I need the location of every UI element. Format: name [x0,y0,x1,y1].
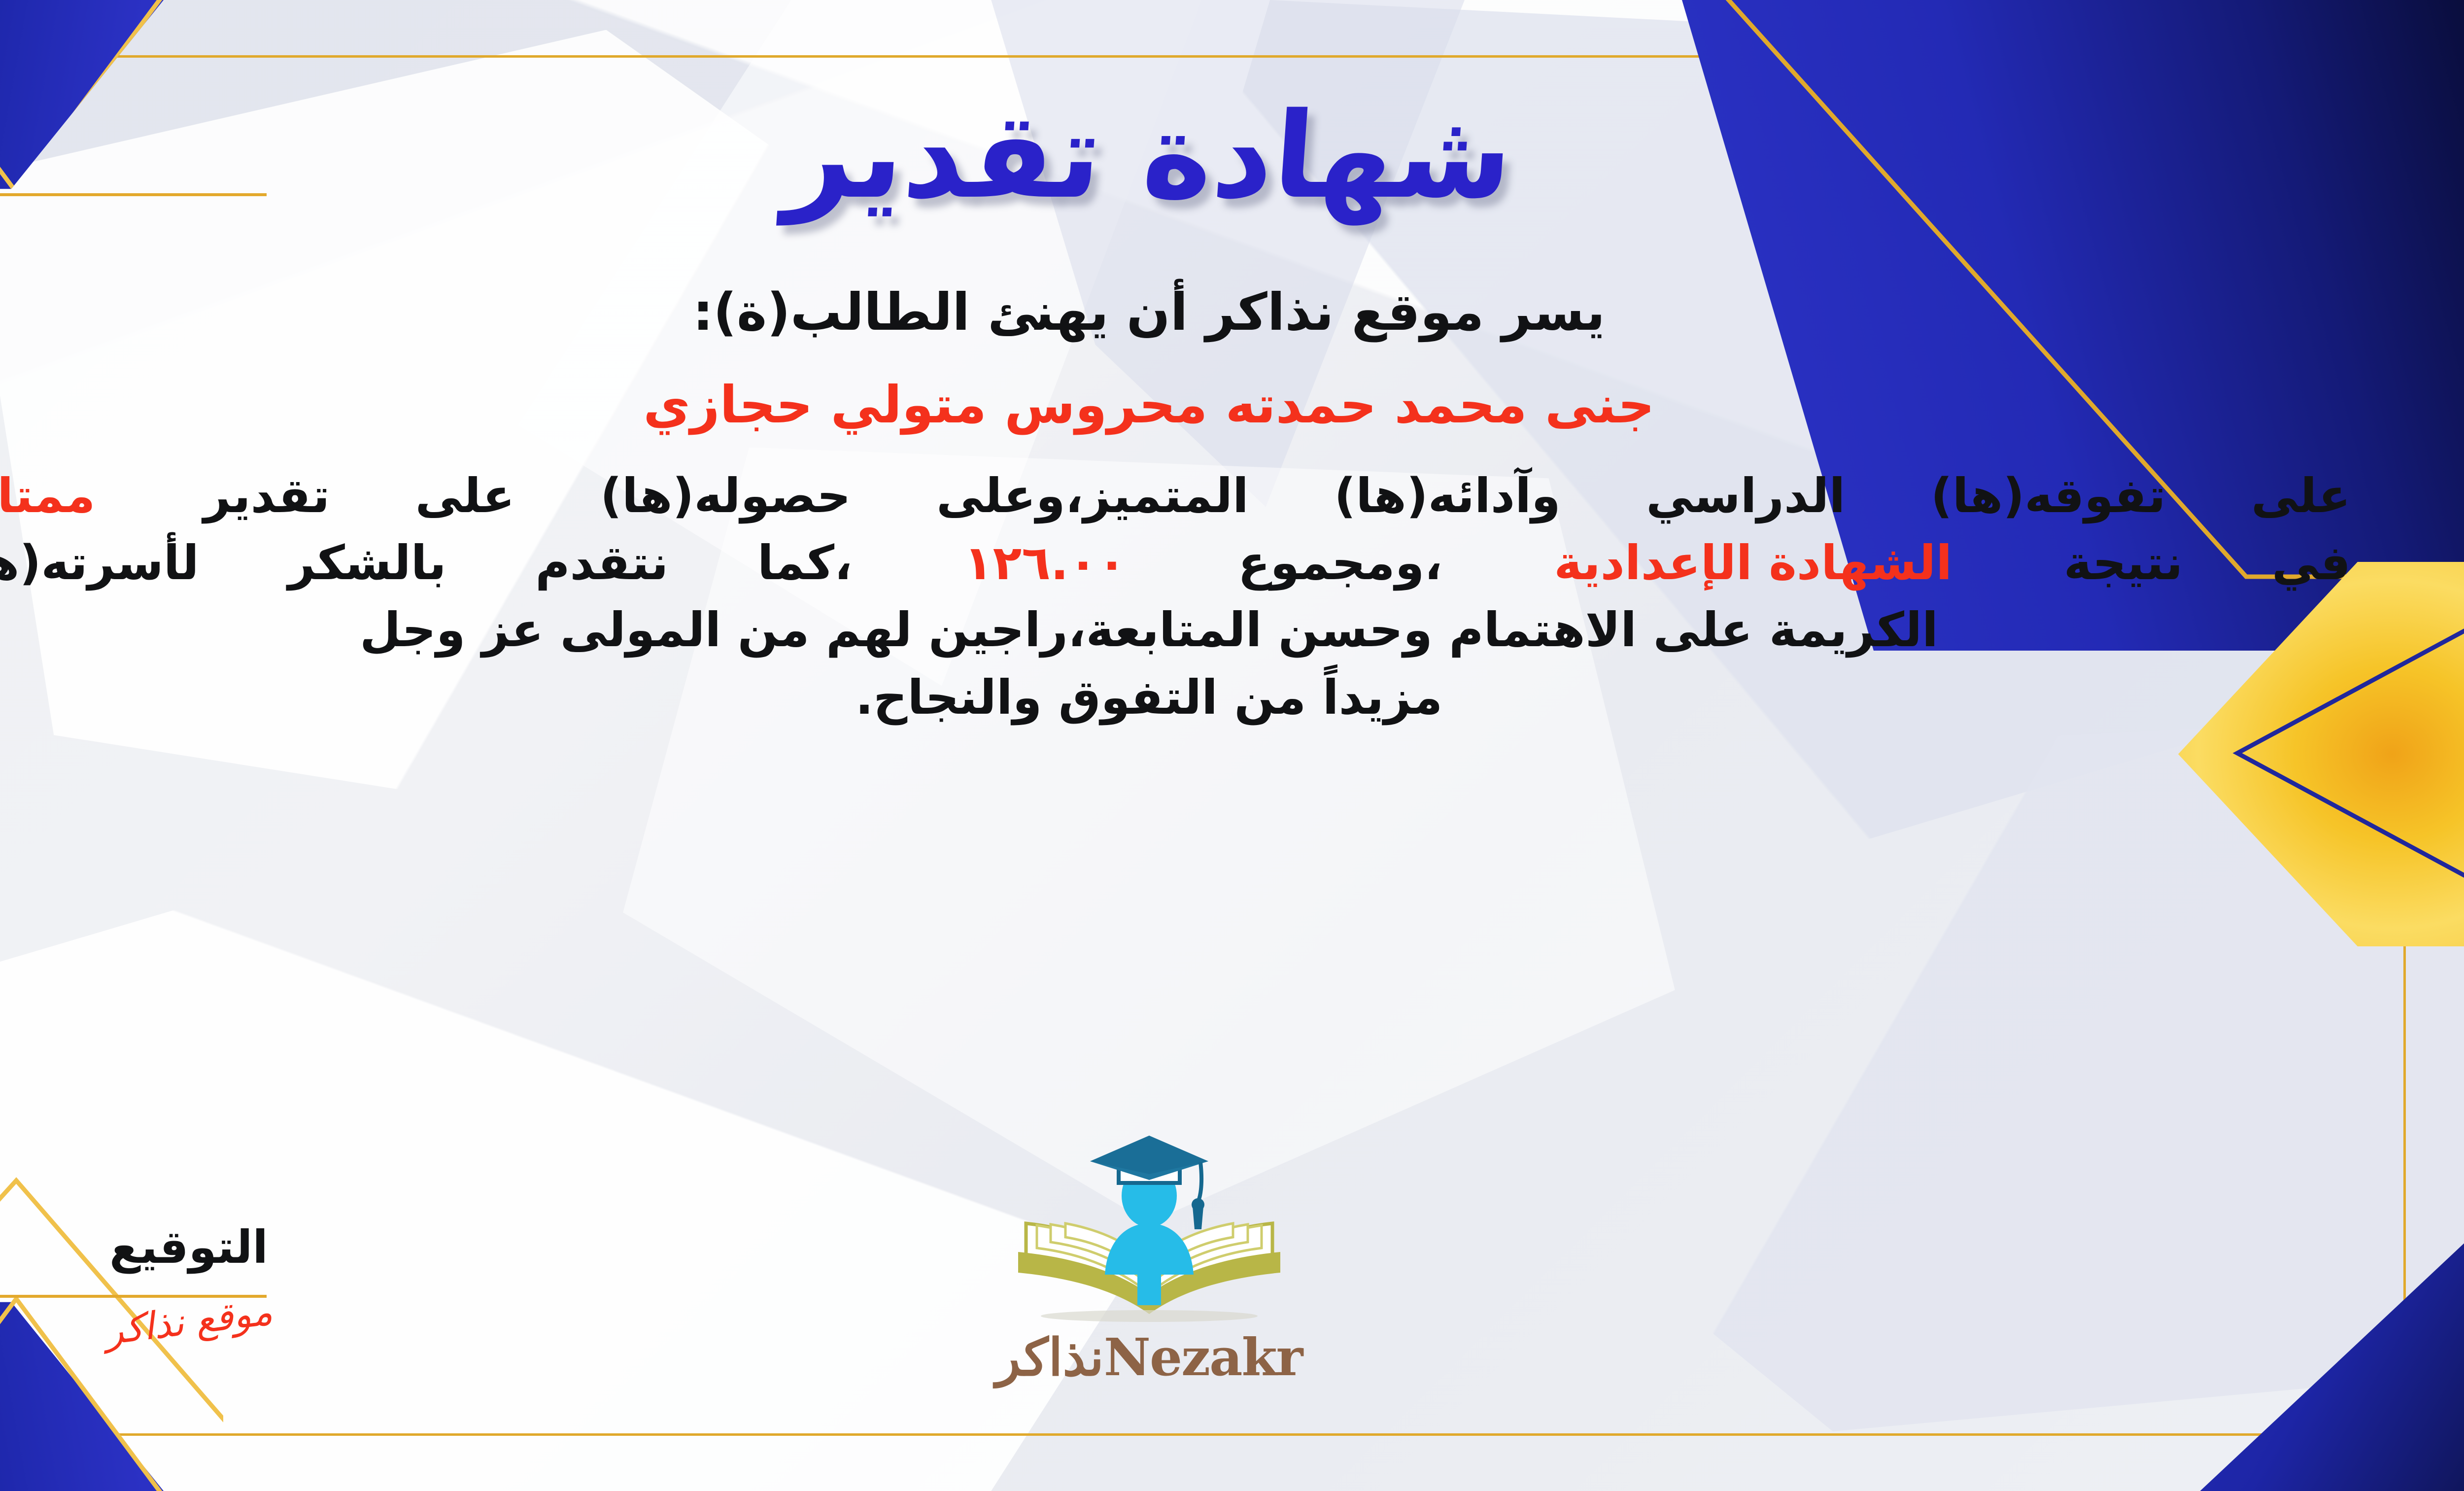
cap-tassel-cord [1198,1162,1201,1201]
certificate-footer: التوقيع موقع نذاكر [0,1092,2351,1397]
handwritten-signature: موقع نذاكر [103,1289,274,1353]
signature-label: التوقيع [0,1221,411,1274]
body-line-2-suffix: ،كما نتقدم بالشكر لأسرته(ها) [0,535,853,590]
body-line-3: الكريمة على الاهتمام وحسن المتابعة،راجين… [0,596,2351,663]
brand-logo: Nezakrنذاكر [962,1127,1336,1387]
student-name: جنى محمد حمدته محروس متولي حجازي [0,375,2351,435]
grade-value: ممتاز [0,462,118,529]
body-line-1: على تفوقه(ها) الدراسي وآدائه(ها) المتميز… [0,462,2351,529]
body-line-2: في نتيجة الشهادة الإعدادية ،ومجموع ١٢٦.٠… [0,529,2351,596]
logo-wordmark: Nezakrنذاكر [962,1327,1336,1387]
certificate-page: شهادة تقدير يسر موقع نذاكر أن يهنئ الطال… [0,0,2464,1491]
certificate-title: شهادة تقدير [782,94,1516,218]
body-line-4: مزيداً من التفوق والنجاح. [0,664,2351,731]
total-score: ١٢٦.٠٠ [941,529,1149,596]
cap-tassel [1193,1207,1203,1229]
body-line-2-mid: ،ومجموع [1238,535,1442,590]
body-line-2-prefix: في نتيجة [2064,535,2351,590]
signature-block: التوقيع موقع نذاكر [0,1221,411,1343]
logo-arabic: نذاكر [996,1327,1104,1387]
certificate-body: يسر موقع نذاكر أن يهنئ الطالب(ة): جنى مح… [0,276,2351,731]
graduate-book-logo-svg [996,1127,1302,1324]
body-line-1-text: على تفوقه(ها) الدراسي وآدائه(ها) المتميز… [204,468,2351,523]
intro-line: يسر موقع نذاكر أن يهنئ الطالب(ة): [0,276,2351,349]
logo-latin: Nezakr [1104,1327,1302,1387]
student-body [1105,1223,1194,1275]
graduate-book-icon [996,1127,1302,1324]
certificate-content: شهادة تقدير يسر موقع نذاكر أن يهنئ الطال… [0,74,2351,1417]
title-area: شهادة تقدير [0,94,2351,242]
exam-name: الشهادة الإعدادية [1531,529,1975,596]
student-lower [1137,1268,1161,1305]
logo-shadow [1041,1310,1258,1322]
